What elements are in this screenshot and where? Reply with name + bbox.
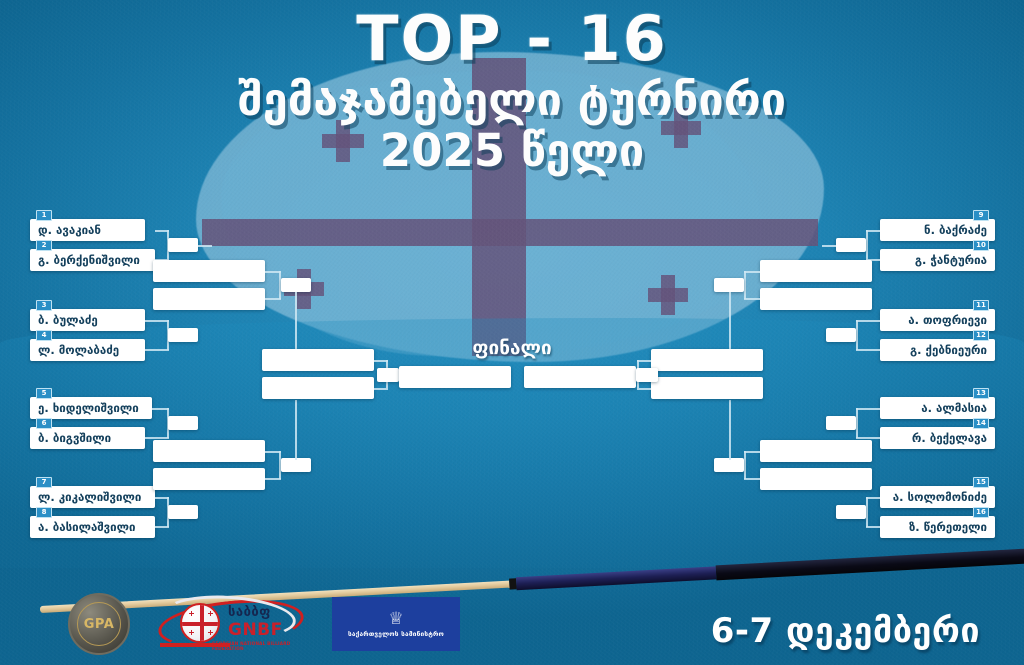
- player-name: ა. ბასილაშვილი: [30, 520, 155, 534]
- player-name: ნ. ბაქრაძე: [880, 223, 995, 237]
- player-name: ზ. წერეთელი: [880, 520, 995, 534]
- player-name: ბ. ბულაძე: [30, 313, 145, 327]
- connector: [822, 245, 836, 247]
- connector: [856, 437, 880, 439]
- bracket-slot-left-r3-1[interactable]: [153, 260, 265, 282]
- bracket-slot-right-r2-4[interactable]: [836, 505, 866, 519]
- connector: [744, 478, 760, 480]
- gnbf-georgian-cross-globe: [180, 603, 220, 643]
- seed-badge: 1: [36, 210, 52, 221]
- bracket-slot-right-15[interactable]: 15 ა. სოლომონიძე: [880, 486, 995, 508]
- bracket-slot-left-r3-2[interactable]: [153, 288, 265, 310]
- bracket-slot-right-r3-2[interactable]: [760, 288, 872, 310]
- seed-badge: 14: [973, 418, 989, 429]
- player-name: ე. ხიდელიშვილი: [30, 401, 152, 415]
- bracket-slot-right-11[interactable]: 11 ა. თოფრიევი: [880, 309, 995, 331]
- tournament-bracket-poster: TOP - 16 შემაჯამებელი ტურნირი 2025 წელი …: [0, 0, 1024, 665]
- bracket-slot-right-r2-1[interactable]: [836, 238, 866, 252]
- bracket-slot-left-2[interactable]: 2 გ. ბერქენიშვილი: [30, 249, 155, 271]
- bracket: 1 დ. ავაკიან 2 გ. ბერქენიშვილი 3 ბ. ბულა…: [0, 0, 1024, 665]
- gnbf-logo-ka-text: საბბფ: [228, 605, 271, 620]
- connector: [295, 400, 297, 460]
- seed-badge: 5: [36, 388, 52, 399]
- connector: [866, 230, 880, 232]
- player-name: გ. ჭანტურია: [880, 253, 995, 267]
- seed-badge: 10: [973, 240, 989, 251]
- event-date: 6-7 დეკემბერი: [711, 611, 980, 651]
- bracket-slot-right-r3-3[interactable]: [760, 440, 872, 462]
- player-name: ა. ალმასია: [880, 401, 995, 415]
- player-name: ბ. ბიგვშილი: [30, 431, 145, 445]
- connector: [729, 400, 731, 460]
- connector: [637, 388, 651, 390]
- bracket-slot-left-7[interactable]: 7 ლ. კიკალიშვილი: [30, 486, 155, 508]
- seed-badge: 16: [973, 507, 989, 518]
- bracket-slot-right-r3-1[interactable]: [760, 260, 872, 282]
- player-name: ლ. კიკალიშვილი: [30, 490, 155, 504]
- gnbf-logo-subtitle: GEORGIAN NATIONAL BILLIARD FEDERATION: [212, 641, 306, 651]
- connector: [866, 497, 880, 499]
- bracket-slot-final-left[interactable]: [399, 366, 511, 388]
- small-cross: [189, 611, 194, 616]
- seed-badge: 2: [36, 240, 52, 251]
- bracket-slot-left-8[interactable]: 8 ა. ბასილაშვილი: [30, 516, 155, 538]
- connector: [744, 271, 746, 299]
- connector: [856, 408, 880, 410]
- seed-badge: 8: [36, 507, 52, 518]
- seed-badge: 3: [36, 300, 52, 311]
- bracket-slot-left-semi-merge[interactable]: [377, 368, 399, 382]
- small-cross: [208, 611, 213, 616]
- footer: GPA საბბფ GNBF GEORGIAN NATIONAL BILLIAR…: [0, 579, 1024, 665]
- bracket-slot-final-right[interactable]: [524, 366, 636, 388]
- seed-badge: 7: [36, 477, 52, 488]
- player-name: ა. თოფრიევი: [880, 313, 995, 327]
- connector: [866, 497, 868, 527]
- bracket-slot-left-6[interactable]: 6 ბ. ბიგვშილი: [30, 427, 145, 449]
- bracket-slot-left-semi-2[interactable]: [262, 377, 374, 399]
- connector: [155, 526, 169, 528]
- seed-badge: 15: [973, 477, 989, 488]
- connector: [744, 298, 760, 300]
- connector: [744, 451, 746, 479]
- bracket-slot-left-3[interactable]: 3 ბ. ბულაძე: [30, 309, 145, 331]
- connector: [856, 320, 880, 322]
- connector: [744, 451, 760, 453]
- government-logo: ♕ საქართველოს სამინისტრო: [332, 597, 460, 651]
- connector: [145, 320, 169, 322]
- player-name: ა. სოლომონიძე: [880, 490, 995, 504]
- bracket-slot-right-semi-2[interactable]: [651, 377, 763, 399]
- bracket-slot-right-r2-3[interactable]: [826, 416, 856, 430]
- gpa-logo-inner-ring: GPA: [77, 602, 121, 646]
- bracket-slot-left-r2-1[interactable]: [168, 238, 198, 252]
- bracket-slot-left-r3-merge[interactable]: [281, 278, 311, 292]
- connector: [374, 388, 388, 390]
- sponsor-logos: GPA საბბფ GNBF GEORGIAN NATIONAL BILLIAR…: [68, 593, 460, 655]
- bracket-slot-right-14[interactable]: 14 რ. ბექელავა: [880, 427, 995, 449]
- player-name: რ. ბექელავა: [880, 431, 995, 445]
- bracket-slot-left-1[interactable]: 1 დ. ავაკიან: [30, 219, 145, 241]
- bracket-slot-left-r3-merge-2[interactable]: [281, 458, 311, 472]
- connector: [744, 271, 760, 273]
- seed-badge: 13: [973, 388, 989, 399]
- gnbf-logo: საბბფ GNBF GEORGIAN NATIONAL BILLIARD FE…: [156, 593, 306, 655]
- gpa-logo: GPA: [68, 593, 130, 655]
- small-cross: [208, 630, 213, 635]
- seed-badge: 6: [36, 418, 52, 429]
- player-name: დ. ავაკიან: [30, 223, 145, 237]
- connector: [866, 526, 880, 528]
- connector: [145, 437, 169, 439]
- player-name: გ. ბერქენიშვილი: [30, 253, 155, 267]
- connector: [198, 245, 212, 247]
- gpa-logo-text: GPA: [84, 617, 115, 632]
- coat-of-arms-icon: ♕: [388, 611, 403, 628]
- connector: [637, 360, 651, 362]
- bracket-slot-right-16[interactable]: 16 ზ. წერეთელი: [880, 516, 995, 538]
- final-round-label: ფინალი: [0, 337, 1024, 359]
- bracket-slot-left-r3-4[interactable]: [153, 468, 265, 490]
- seed-badge: 11: [973, 300, 989, 311]
- bracket-slot-right-r3-merge-2[interactable]: [714, 458, 744, 472]
- cross-horizontal: [182, 622, 218, 626]
- bracket-slot-left-r2-3[interactable]: [168, 416, 198, 430]
- bracket-slot-right-r3-merge[interactable]: [714, 278, 744, 292]
- bracket-slot-right-13[interactable]: 13 ა. ალმასია: [880, 397, 995, 419]
- bracket-slot-right-9[interactable]: 9 ნ. ბაქრაძე: [880, 219, 995, 241]
- bracket-slot-right-semi-merge[interactable]: [636, 368, 658, 382]
- connector: [265, 298, 281, 300]
- bracket-slot-right-r3-4[interactable]: [760, 468, 872, 490]
- small-cross: [189, 630, 194, 635]
- connector: [856, 408, 858, 438]
- gnbf-logo-en-text: GNBF: [228, 620, 283, 640]
- government-logo-text: საქართველოს სამინისტრო: [348, 630, 444, 638]
- bracket-slot-left-r3-3[interactable]: [153, 440, 265, 462]
- bracket-slot-left-5[interactable]: 5 ე. ხიდელიშვილი: [30, 397, 152, 419]
- connector: [866, 230, 868, 260]
- bracket-slot-left-r2-4[interactable]: [168, 505, 198, 519]
- bracket-slot-right-10[interactable]: 10 გ. ჭანტურია: [880, 249, 995, 271]
- seed-badge: 9: [973, 210, 989, 221]
- connector: [265, 478, 281, 480]
